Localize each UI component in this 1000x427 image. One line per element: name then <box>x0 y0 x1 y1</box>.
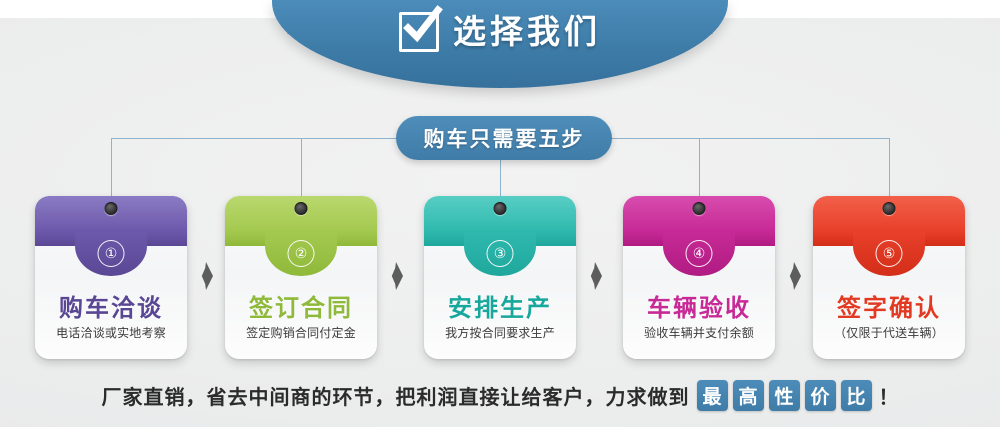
step-card-1-title: 购车洽谈 <box>35 288 187 323</box>
step-card-4-title: 车辆验收 <box>623 288 775 323</box>
connector-drop-4 <box>699 138 700 204</box>
footer-slogan: 厂家直销，省去中间商的环节，把利润直接让给客户，力求做到 最 高 性 价 比 ！ <box>0 374 1000 416</box>
connector-drop-1 <box>111 138 112 204</box>
arrow-right-diamond-icon-1 <box>199 262 213 290</box>
footer-highlight-group: 最 高 性 价 比 <box>697 380 872 411</box>
connector-line-right <box>611 138 889 139</box>
footer-highlight-char-3: 性 <box>769 380 800 411</box>
step-card-2[interactable]: ② 签订合同 签定购销合同付定金 <box>225 196 377 359</box>
footer-highlight-char-4: 价 <box>805 380 836 411</box>
step-card-2-grommet-icon <box>295 202 308 215</box>
step-card-5-title: 签字确认 <box>813 288 965 323</box>
footer-highlight-char-1: 最 <box>697 380 728 411</box>
banner-ribbon: 选择我们 <box>272 0 728 88</box>
step-card-1[interactable]: ① 购车洽谈 电话洽谈或实地考察 <box>35 196 187 359</box>
checkbox-check-icon <box>399 12 439 52</box>
steps-row: ① 购车洽谈 电话洽谈或实地考察 ② 签订合同 签定购销合同付定金 ③ 安排生产… <box>0 196 1000 361</box>
step-card-4-subtitle: 验收车辆并支付余额 <box>623 324 775 341</box>
steps-pill-label: 购车只需要五步 <box>396 116 612 160</box>
step-card-3-grommet-icon <box>494 202 507 215</box>
step-card-5-grommet-icon <box>883 202 896 215</box>
footer-highlight-char-2: 高 <box>733 380 764 411</box>
step-card-5[interactable]: ⑤ 签字确认 （仅限于代送车辆） <box>813 196 965 359</box>
step-card-4[interactable]: ④ 车辆验收 验收车辆并支付余额 <box>623 196 775 359</box>
step-card-1-number: ① <box>98 240 125 267</box>
footer-lead-text: 厂家直销，省去中间商的环节，把利润直接让给客户，力求做到 <box>102 381 690 410</box>
step-card-3-title: 安排生产 <box>424 288 576 323</box>
step-card-3-subtitle: 我方按合同要求生产 <box>424 324 576 341</box>
step-card-3[interactable]: ③ 安排生产 我方按合同要求生产 <box>424 196 576 359</box>
arrow-right-diamond-icon-2 <box>389 262 403 290</box>
banner-title: 选择我们 <box>453 13 601 51</box>
footer-highlight-char-5: 比 <box>841 380 872 411</box>
arrow-right-diamond-icon-3 <box>588 262 602 290</box>
step-card-4-number: ④ <box>686 240 713 267</box>
step-card-2-title: 签订合同 <box>225 288 377 323</box>
step-card-4-grommet-icon <box>693 202 706 215</box>
step-card-5-number: ⑤ <box>876 240 903 267</box>
connector-line-left <box>111 138 397 139</box>
step-card-5-subtitle: （仅限于代送车辆） <box>813 324 965 341</box>
step-card-1-grommet-icon <box>105 202 118 215</box>
step-card-1-subtitle: 电话洽谈或实地考察 <box>35 324 187 341</box>
step-card-2-subtitle: 签定购销合同付定金 <box>225 324 377 341</box>
step-card-3-number: ③ <box>487 240 514 267</box>
step-card-2-number: ② <box>288 240 315 267</box>
header-banner: 选择我们 <box>272 0 728 92</box>
infographic-canvas: 选择我们 购车只需要五步 ① 购车洽谈 电话洽谈或实地考察 ② 签订合同 <box>0 0 1000 427</box>
connector-drop-5 <box>889 138 890 204</box>
arrow-right-diamond-icon-4 <box>787 262 801 290</box>
footer-tail-text: ！ <box>879 381 899 410</box>
connector-drop-2 <box>301 138 302 204</box>
